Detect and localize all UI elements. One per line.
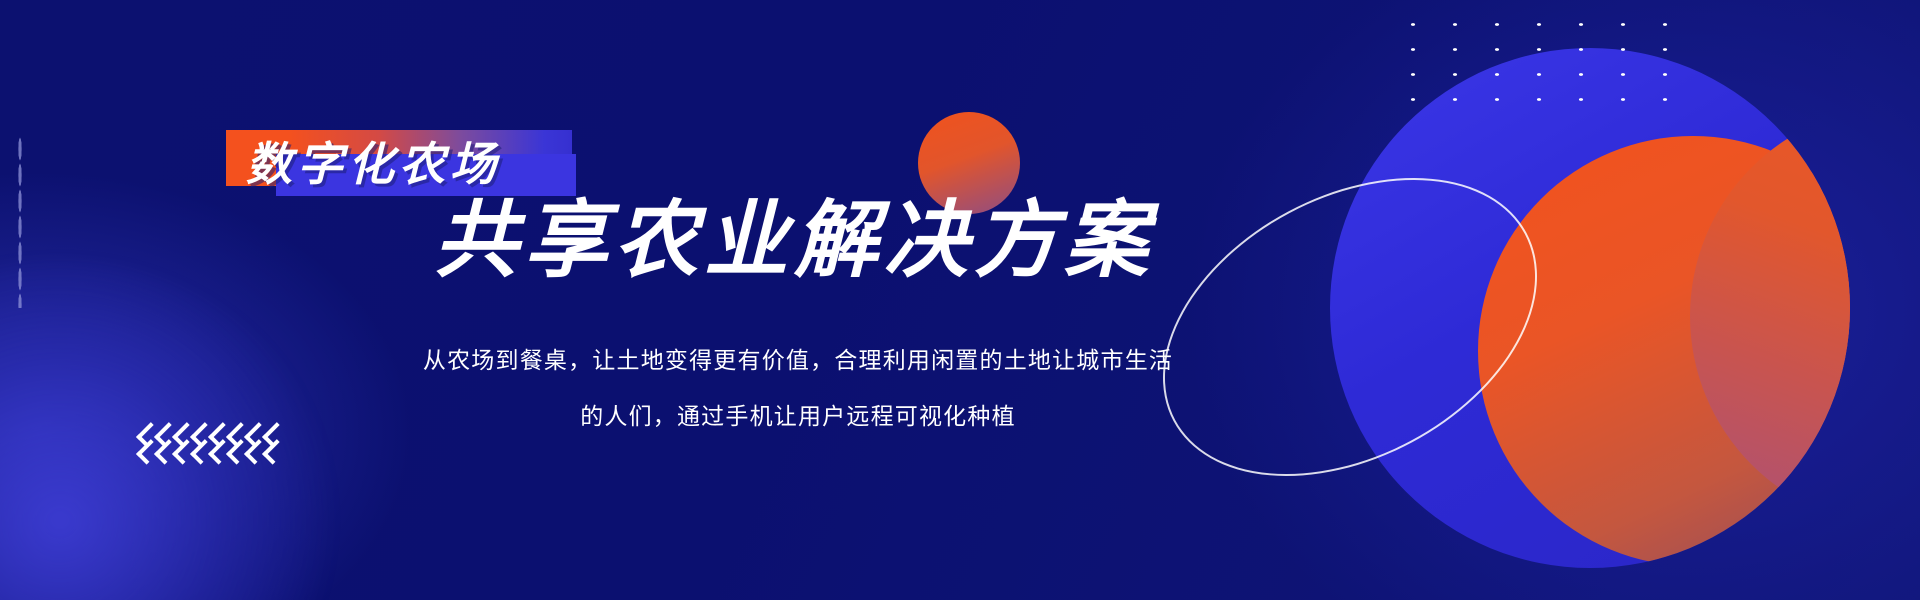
- subtitle-line-2: 的人们，通过手机让用户远程可视化种植: [358, 388, 1238, 444]
- badge: 数字化农场: [186, 112, 586, 204]
- subtitle-line-1: 从农场到餐桌，让土地变得更有价值，合理利用闲置的土地让城市生活: [358, 332, 1238, 388]
- chevron-arrows-icon: [134, 412, 277, 454]
- chevron-left-icon: [260, 412, 277, 454]
- chevron-left-icon: [170, 412, 187, 454]
- chevron-left-icon: [206, 412, 223, 454]
- chevron-left-icon: [188, 412, 205, 454]
- chevron-left-icon: [242, 412, 259, 454]
- page-title: 共享农业解决方案: [434, 196, 1154, 285]
- dotted-line-left: [18, 136, 22, 308]
- hero-banner: 数字化农场 共享农业解决方案 从农场到餐桌，让土地变得更有价值，合理利用闲置的土…: [0, 0, 1920, 600]
- chevron-left-icon: [152, 412, 169, 454]
- dot-grid-pattern: [1392, 12, 1692, 122]
- chevron-left-icon: [134, 412, 151, 454]
- chevron-left-icon: [224, 412, 241, 454]
- badge-label: 数字化农场: [246, 130, 586, 192]
- subtitle: 从农场到餐桌，让土地变得更有价值，合理利用闲置的土地让城市生活 的人们，通过手机…: [358, 332, 1238, 444]
